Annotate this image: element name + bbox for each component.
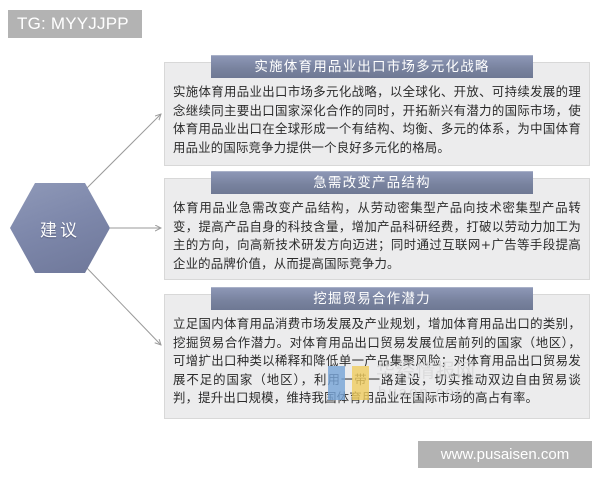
hexagon-label: 建议 xyxy=(10,183,110,273)
connector-to-card-3 xyxy=(85,266,161,345)
tg-tag: TG: MYYJJPP xyxy=(8,10,142,38)
card-title: 挖掘贸易合作潜力 xyxy=(211,287,533,310)
hub-hexagon[interactable]: 建议 xyxy=(10,183,110,273)
card-title: 实施体育用品业出口市场多元化战略 xyxy=(211,55,533,78)
source-url-tag: www.pusaisen.com xyxy=(418,441,592,468)
recommendation-card: 实施体育用品业出口市场多元化战略 实施体育用品业出口市场多元化战略，以全球化、开… xyxy=(164,62,590,166)
card-body-text: 体育用品业急需改变产品结构，从劳动密集型产品向技术密集型产品转变，提高产品自身的… xyxy=(173,199,581,273)
recommendation-card: 急需改变产品结构 体育用品业急需改变产品结构，从劳动密集型产品向技术密集型产品转… xyxy=(164,178,590,280)
card-body-text: 立足国内体育用品消费市场发展及产业规划，增加体育用品出口的类别，挖掘贸易合作潜力… xyxy=(173,315,581,408)
recommendation-card: 挖掘贸易合作潜力 立足国内体育用品消费市场发展及产业规划，增加体育用品出口的类别… xyxy=(164,294,590,419)
connector-to-card-1 xyxy=(85,114,161,190)
card-body-text: 实施体育用品业出口市场多元化战略，以全球化、开放、可持续发展的理念继续同主要出口… xyxy=(173,83,581,157)
card-title: 急需改变产品结构 xyxy=(211,171,533,194)
